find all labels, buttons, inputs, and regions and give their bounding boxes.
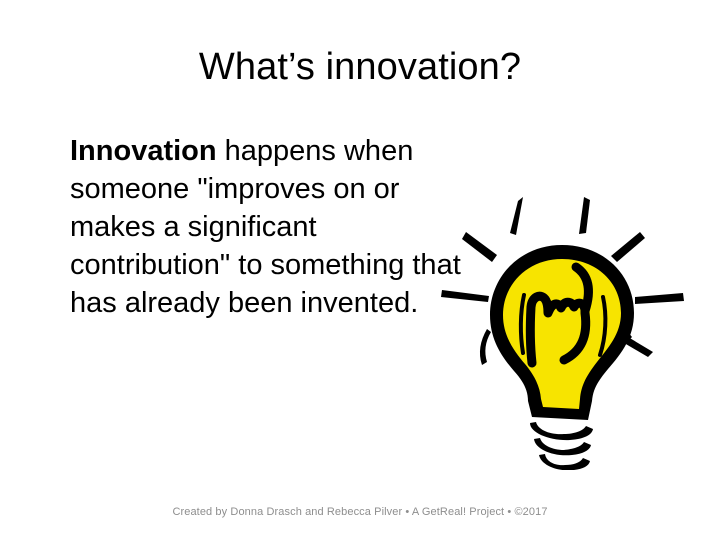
bulb-thread-2 (534, 438, 591, 455)
body-paragraph: Innovation happens when someone "improve… (70, 132, 470, 322)
bulb-thread-3 (539, 454, 590, 470)
ray-lower-left-arc (480, 329, 491, 365)
bulb-base-threads (530, 422, 593, 470)
body-lead-word: Innovation (70, 135, 217, 167)
ray-right (635, 293, 684, 304)
bulb-thread-1 (530, 422, 593, 440)
slide-canvas: What’s innovation? Innovation happens wh… (0, 0, 720, 540)
footer-credit: Created by Donna Drasch and Rebecca Pilv… (0, 506, 720, 518)
ray-upper-left (462, 232, 497, 262)
ray-top-right (579, 197, 590, 234)
page-title: What’s innovation? (0, 45, 720, 91)
ray-upper-right (611, 232, 645, 262)
ray-left (441, 290, 489, 302)
ray-top-left (510, 197, 523, 235)
lightbulb-icon (440, 185, 690, 470)
